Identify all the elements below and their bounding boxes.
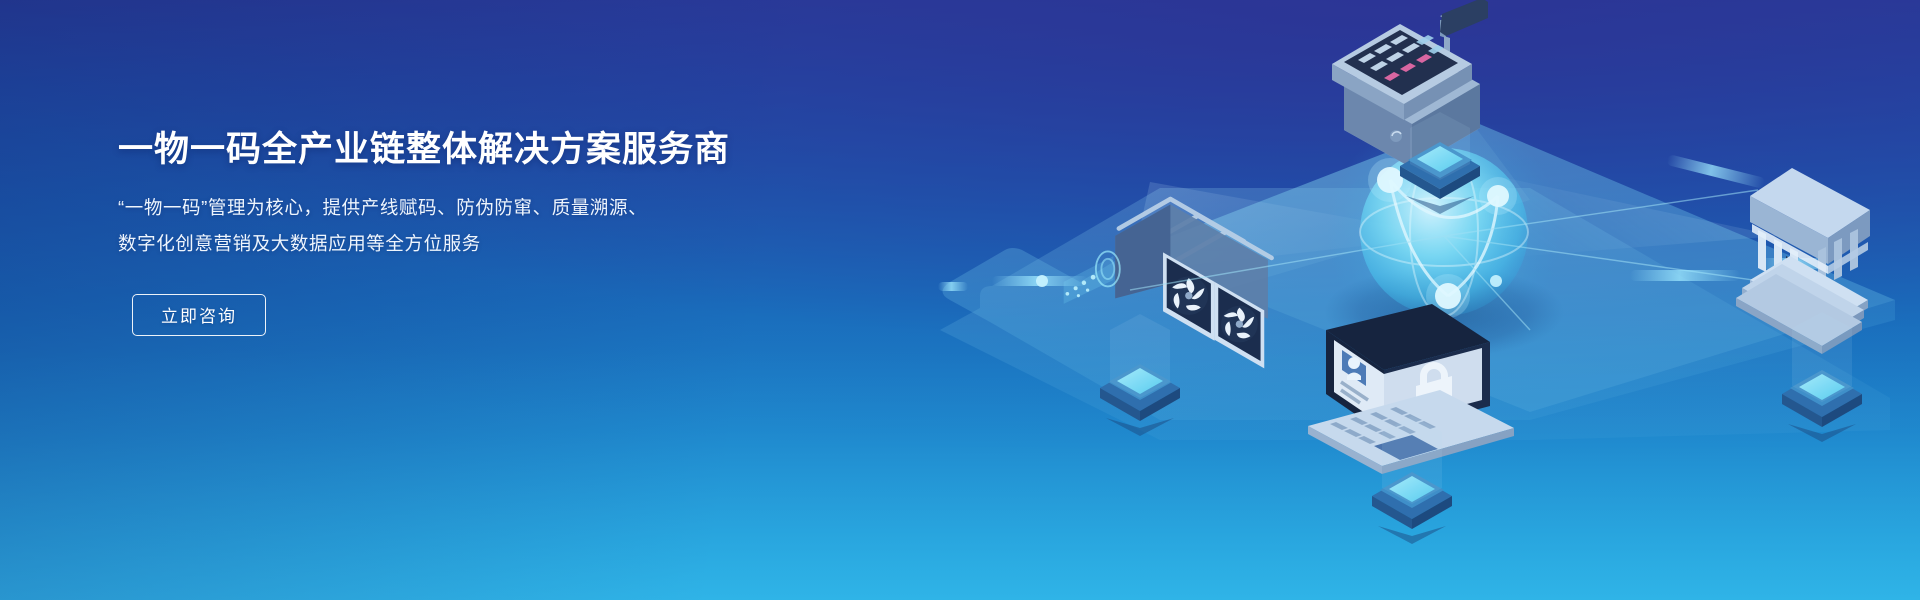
page-title: 一物一码全产业链整体解决方案服务商 xyxy=(118,128,738,172)
consult-now-button[interactable]: 立即咨询 xyxy=(132,294,266,336)
subtitle-line-2: 数字化创意营销及大数据应用等全方位服务 xyxy=(118,226,738,262)
hero-copy: 一物一码全产业链整体解决方案服务商 “一物一码”管理为核心，提供产线赋码、防伪防… xyxy=(118,128,738,336)
hero-illustration xyxy=(830,0,1920,600)
hero-banner: 一物一码全产业链整体解决方案服务商 “一物一码”管理为核心，提供产线赋码、防伪防… xyxy=(0,0,1920,600)
subtitle-line-1: “一物一码”管理为核心，提供产线赋码、防伪防窜、质量溯源、 xyxy=(118,190,738,226)
